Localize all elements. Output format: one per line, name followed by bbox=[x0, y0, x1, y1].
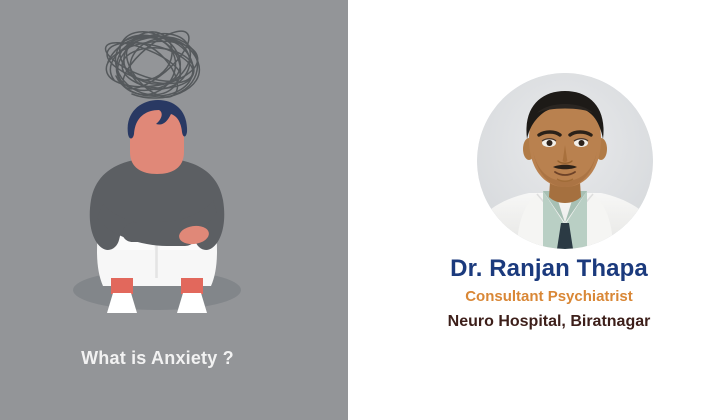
slide-root: What is Anxiety ? bbox=[0, 0, 720, 420]
tangled-scribble-icon bbox=[88, 18, 218, 108]
doctor-info-block: Dr. Ranjan Thapa Consultant Psychiatrist… bbox=[378, 255, 720, 331]
ankle-band-right bbox=[181, 278, 203, 294]
anxious-person-illustration bbox=[55, 100, 260, 315]
doctor-role: Consultant Psychiatrist bbox=[378, 288, 720, 306]
doctor-hospital: Neuro Hospital, Biratnagar bbox=[378, 312, 720, 331]
slide-caption: What is Anxiety ? bbox=[0, 348, 315, 369]
doctor-portrait-photo bbox=[477, 73, 653, 249]
doctor-name: Dr. Ranjan Thapa bbox=[378, 255, 720, 283]
ankle-band-left bbox=[111, 278, 133, 294]
